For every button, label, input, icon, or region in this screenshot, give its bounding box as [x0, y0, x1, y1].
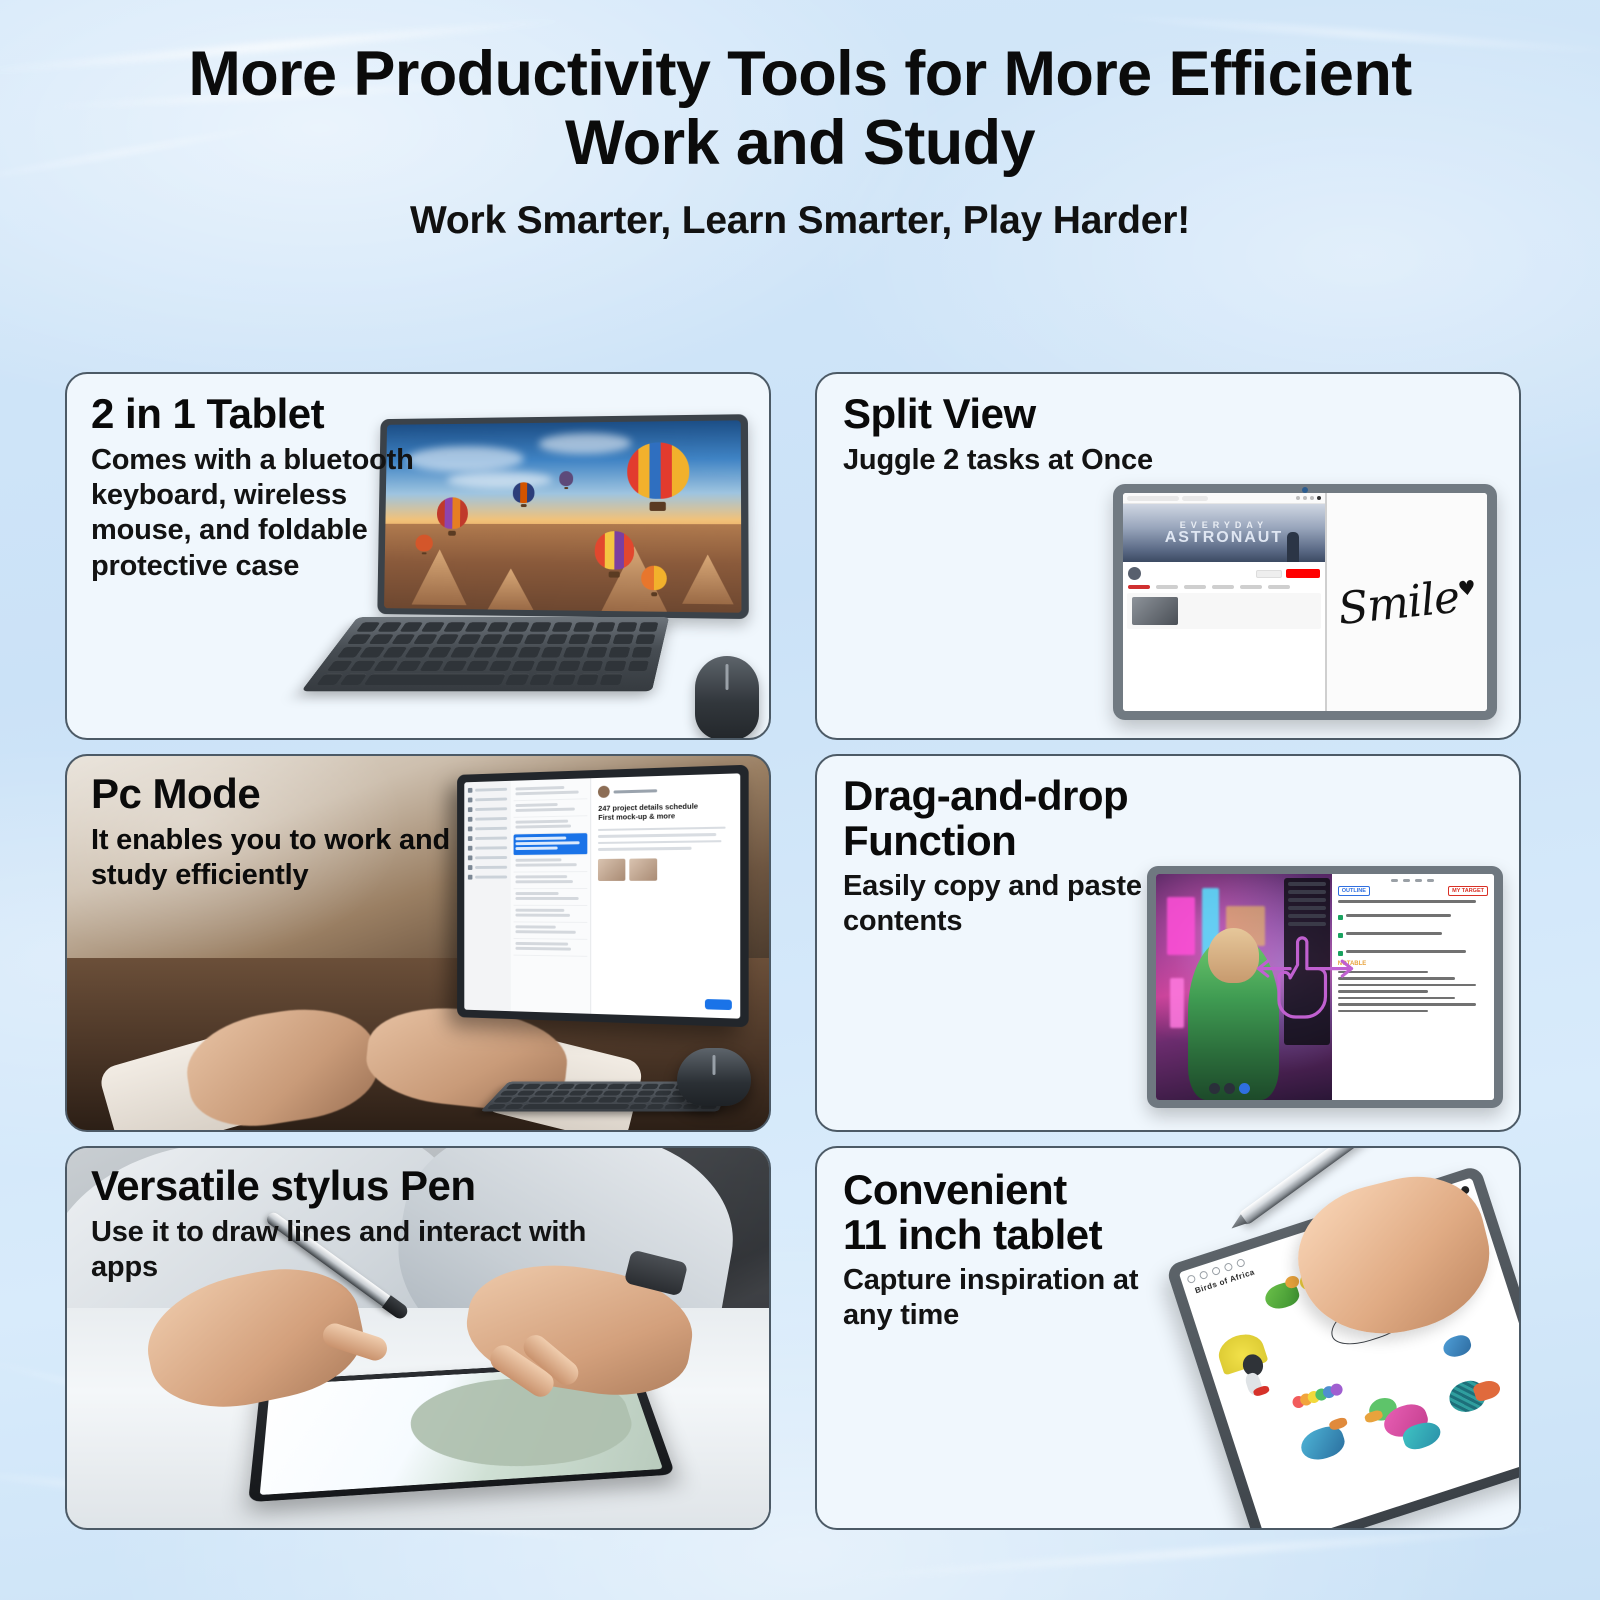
handwritten-word: Smile [1336, 571, 1462, 634]
email-subject-line-2: First mock-up & more [598, 810, 733, 822]
tool-icon-active[interactable] [1239, 1083, 1250, 1094]
list-item[interactable] [514, 855, 588, 872]
browser-toolbar[interactable] [1123, 493, 1325, 504]
card-text-block: Split View Juggle 2 tasks at Once [843, 392, 1263, 478]
wireless-mouse [677, 1048, 751, 1106]
feature-card-convenient-11-inch-tablet: Convenient 11 inch tablet Capture inspir… [815, 1146, 1521, 1530]
card-description: It enables you to work and study efficie… [91, 823, 481, 894]
page-title-line-2: Work and Study [0, 109, 1600, 178]
address-bar[interactable] [1127, 496, 1179, 501]
tab-playlists[interactable] [1184, 585, 1206, 589]
card-text-block: 2 in 1 Tablet Comes with a bluetooth key… [91, 392, 441, 584]
bluetooth-keyboard [301, 617, 669, 691]
feature-card-grid: 2 in 1 Tablet Comes with a bluetooth key… [65, 372, 1535, 1524]
sender-name [614, 789, 658, 793]
card-description: Easily copy and paste contents [843, 869, 1143, 940]
infographic-page: More Productivity Tools for More Efficie… [0, 0, 1600, 1600]
tab-videos[interactable] [1156, 585, 1178, 589]
page-title: More Productivity Tools for More Efficie… [0, 40, 1600, 179]
toolbar-icon[interactable] [1303, 496, 1307, 500]
card-title-line-2: Function [843, 819, 1143, 864]
page-subtitle: Work Smarter, Learn Smarter, Play Harder… [0, 199, 1600, 243]
email-client-screen: 247 project details schedule First mock-… [464, 773, 740, 1018]
video-grid-row[interactable] [1123, 629, 1325, 637]
bird-small-perched [1437, 1324, 1486, 1369]
feature-card-versatile-stylus-pen: Versatile stylus Pen Use it to draw line… [65, 1146, 771, 1530]
channel-avatar [1128, 567, 1141, 580]
card-description: Juggle 2 tasks at Once [843, 443, 1263, 478]
channel-tabs[interactable] [1123, 585, 1325, 593]
toolbar-icon[interactable] [1296, 496, 1300, 500]
card-text-block: Pc Mode It enables you to work and study… [91, 772, 481, 893]
layers-tool-icon[interactable] [1236, 1258, 1246, 1268]
drag-gesture-icon [1249, 928, 1361, 1036]
card-description: Capture inspiration at any time [843, 1263, 1183, 1334]
card-title: Pc Mode [91, 772, 481, 817]
tab-home[interactable] [1128, 585, 1150, 589]
bird-crowned-crane [1212, 1325, 1289, 1404]
card-text-block: Drag-and-drop Function Easily copy and p… [843, 774, 1143, 940]
eraser-tool-icon[interactable] [1211, 1266, 1221, 1276]
feature-card-pc-mode: 247 project details schedule First mock-… [65, 754, 771, 1132]
subscribe-button[interactable] [1286, 569, 1320, 578]
video-thumbnail[interactable] [1132, 597, 1178, 625]
card-description: Use it to draw lines and interact with a… [91, 1215, 651, 1286]
list-item[interactable] [514, 799, 588, 818]
sender-row [598, 782, 733, 798]
toolbar-icon[interactable] [1310, 496, 1314, 500]
card-title-line-1: Drag-and-drop [843, 774, 1143, 819]
card-title-line-2: 11 inch tablet [843, 1213, 1183, 1258]
feature-card-two-in-one-tablet: 2 in 1 Tablet Comes with a bluetooth key… [65, 372, 771, 740]
search-field[interactable] [1182, 496, 1208, 501]
channel-header-row [1123, 562, 1325, 585]
pen-tool-icon[interactable] [1186, 1274, 1196, 1284]
handwritten-text: Smile♥ [1336, 569, 1479, 634]
card-title: 2 in 1 Tablet [91, 392, 441, 437]
note-tag-target: MY TARGET [1448, 886, 1488, 896]
list-item[interactable] [514, 922, 588, 940]
tool-icon[interactable] [1209, 1083, 1220, 1094]
color-palette-dots [1291, 1382, 1344, 1409]
banner-figure [1287, 532, 1299, 562]
tablet-device: 247 project details schedule First mock-… [457, 765, 749, 1028]
list-item[interactable] [514, 816, 588, 834]
card-title: Drag-and-drop Function [843, 774, 1143, 863]
tablet-screen: OUTLINE MY TARGET NOTABLE [1156, 874, 1494, 1100]
account-avatar[interactable] [1317, 496, 1321, 500]
feature-card-split-view: Split View Juggle 2 tasks at Once [815, 372, 1521, 740]
attachment-thumbnail[interactable] [630, 858, 658, 880]
card-text-block: Convenient 11 inch tablet Capture inspir… [843, 1168, 1183, 1334]
channel-banner: EVERYDAY ASTRONAUT [1123, 504, 1325, 562]
video-grid-row[interactable] [1123, 637, 1325, 641]
youtube-pane: EVERYDAY ASTRONAUT [1123, 493, 1327, 711]
avatar [598, 786, 610, 798]
brush-tool-icon[interactable] [1199, 1270, 1209, 1280]
feature-card-drag-and-drop: Drag-and-drop Function Easily copy and p… [815, 754, 1521, 1132]
list-item[interactable] [514, 782, 588, 801]
tablet-screen: EVERYDAY ASTRONAUT [1123, 493, 1487, 711]
send-button[interactable] [705, 999, 732, 1010]
list-item[interactable] [514, 939, 588, 957]
list-item[interactable] [514, 889, 588, 906]
list-item[interactable] [514, 906, 588, 923]
email-subject: 247 project details schedule First mock-… [598, 801, 733, 823]
handwriting-note-pane[interactable]: Smile♥ [1327, 493, 1487, 711]
join-button[interactable] [1256, 570, 1282, 578]
card-title: Convenient 11 inch tablet [843, 1168, 1183, 1257]
banner-line-2: ASTRONAUT [1165, 530, 1283, 546]
tab-channels[interactable] [1240, 585, 1262, 589]
attachment-thumbnail[interactable] [598, 858, 625, 880]
list-item[interactable] [514, 872, 588, 889]
bottom-toolbar[interactable] [1209, 1083, 1250, 1094]
tab-community[interactable] [1212, 585, 1234, 589]
shapes-tool-icon[interactable] [1223, 1262, 1233, 1272]
note-tag-outline: OUTLINE [1338, 886, 1370, 896]
mail-message-list[interactable] [511, 778, 592, 1014]
card-description: Comes with a bluetooth keyboard, wireles… [91, 443, 441, 585]
featured-video[interactable] [1127, 593, 1321, 629]
card-title: Split View [843, 392, 1263, 437]
card-text-block: Versatile stylus Pen Use it to draw line… [91, 1164, 651, 1285]
wireless-mouse [695, 656, 759, 740]
attachment-previews[interactable] [598, 857, 733, 880]
drag-drop-tablet: OUTLINE MY TARGET NOTABLE [1147, 866, 1503, 1108]
note-toolbar[interactable] [1338, 879, 1488, 882]
card-title: Versatile stylus Pen [91, 1164, 651, 1209]
tab-about[interactable] [1268, 585, 1290, 589]
card-title-line-1: Convenient [843, 1168, 1183, 1213]
tool-icon[interactable] [1224, 1083, 1235, 1094]
split-view-tablet: EVERYDAY ASTRONAUT [1113, 484, 1497, 720]
list-item-selected[interactable] [514, 833, 588, 856]
mail-reading-pane: 247 project details schedule First mock-… [591, 773, 740, 1018]
bird-blue-kingfisher [1291, 1412, 1364, 1473]
page-title-line-1: More Productivity Tools for More Efficie… [0, 40, 1600, 109]
heart-icon: ♥ [1457, 575, 1476, 601]
header: More Productivity Tools for More Efficie… [0, 40, 1600, 243]
